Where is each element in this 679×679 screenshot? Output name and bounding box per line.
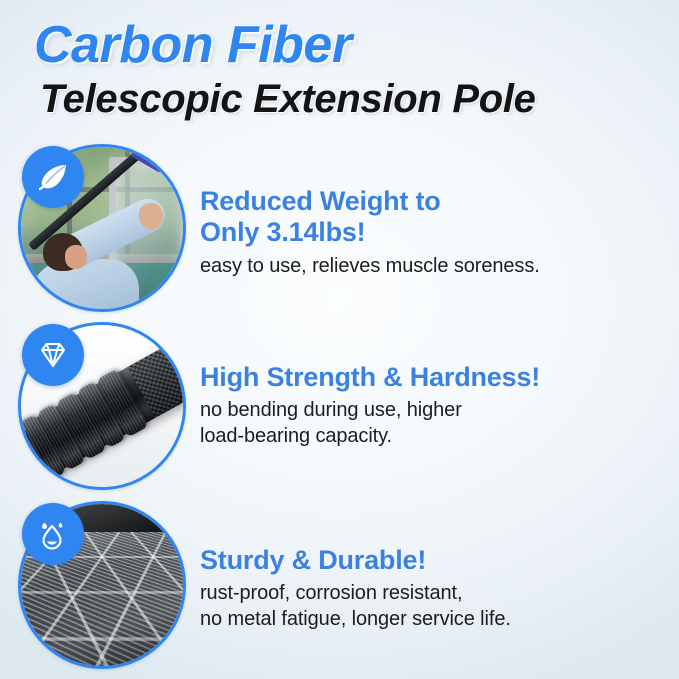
feature-subline: no bending during use, higher load-beari… [200,398,540,448]
feature-headline: Sturdy & Durable! [200,545,511,576]
feature-media [0,497,200,675]
feature-subline: rust-proof, corrosion resistant, no meta… [200,581,511,631]
page-subtitle: Telescopic Extension Pole [40,77,679,122]
feature-headline: High Strength & Hardness! [200,362,540,393]
feature-media [0,318,200,496]
feature-subline: easy to use, relieves muscle soreness. [200,254,540,279]
feature-headline: Reduced Weight to Only 3.14lbs! [200,186,540,249]
header: Carbon Fiber Telescopic Extension Pole [0,18,679,122]
feature-copy: High Strength & Hardness! no bending dur… [200,318,554,449]
diamond-icon [22,324,84,386]
feature-row: Sturdy & Durable! rust-proof, corrosion … [0,497,679,675]
feature-media [0,140,200,318]
page-title: Carbon Fiber [34,18,679,73]
water-drop-icon [22,503,84,565]
feature-copy: Sturdy & Durable! rust-proof, corrosion … [200,497,525,632]
feature-row: High Strength & Hardness! no bending dur… [0,318,679,496]
feature-row: Reduced Weight to Only 3.14lbs! easy to … [0,140,679,318]
product-infographic: Carbon Fiber Telescopic Extension Pole [0,0,679,679]
feather-icon [22,146,84,208]
feature-copy: Reduced Weight to Only 3.14lbs! easy to … [200,140,554,279]
